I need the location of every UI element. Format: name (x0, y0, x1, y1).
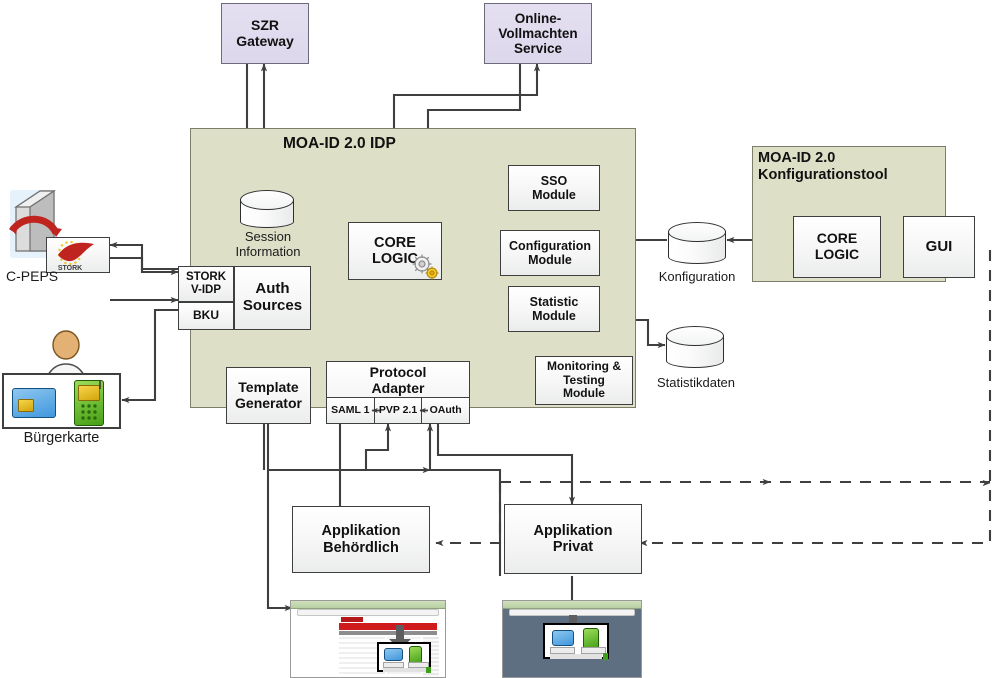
dialog-checkbox-row[interactable] (550, 654, 602, 659)
smartcard-icon (552, 630, 574, 646)
gears-icon (411, 254, 441, 280)
dialog-checkbox-row[interactable] (383, 668, 427, 672)
session-information-store (240, 190, 294, 228)
login-dialog-overlay[interactable] (543, 623, 609, 659)
moa-id-idp-panel-title: MOA-ID 2.0 IDP (283, 135, 396, 153)
c-peps-label: C-PEPS (0, 268, 102, 284)
auth-sources-box[interactable]: Auth Sources (234, 266, 311, 330)
browser-screenshot-behoerdlich[interactable] (290, 600, 446, 678)
protocol-adapter-label: Protocol Adapter (370, 365, 427, 396)
smartcard-chip-icon (18, 399, 34, 412)
online-vollmachten-service-box[interactable]: Online- Vollmachten Service (484, 3, 592, 64)
konfiguration-label: Konfiguration (642, 270, 752, 285)
browser-screenshot-privat[interactable] (502, 600, 642, 678)
buergerkarte-label: Bürgerkarte (0, 430, 123, 447)
konfiguration-store (668, 222, 726, 264)
sso-module-box[interactable]: SSO Module (508, 165, 600, 211)
dialog-button-karte[interactable] (550, 647, 575, 654)
template-generator-box[interactable]: Template Generator (226, 367, 311, 424)
statistikdaten-store (666, 326, 724, 368)
protocol-adapter-sub-arrows (326, 397, 476, 427)
cylinder-top (666, 326, 724, 346)
browser-chrome-bar (503, 601, 641, 609)
applikation-privat-box[interactable]: Applikation Privat (504, 504, 642, 574)
dialog-green-indicator-icon (603, 653, 608, 660)
konfigurationstool-panel-title: MOA-ID 2.0 Konfigurationstool (758, 150, 888, 183)
smartcard-icon (384, 648, 403, 661)
site-logo (341, 617, 363, 622)
login-dialog-overlay[interactable] (377, 642, 431, 672)
konfigurationstool-core-logic-box[interactable]: CORE LOGIC (793, 216, 881, 278)
diagram-canvas: MOA-ID 2.0 IDP MOA-ID 2.0 Konfigurations… (0, 0, 1000, 678)
cylinder-top (668, 222, 726, 242)
session-information-label: Session Information (213, 230, 323, 260)
mobile-phone-icon (583, 628, 599, 649)
mobile-phone-keys-icon (74, 380, 104, 426)
bku-box[interactable]: BKU (178, 302, 234, 330)
browser-chrome-bar (291, 601, 445, 609)
cylinder-top (240, 190, 294, 210)
dialog-green-indicator-icon (426, 667, 431, 673)
browser-address-bar[interactable] (297, 609, 439, 616)
stork-vidp-box[interactable]: STORK V-IDP (178, 266, 234, 302)
configuration-module-box[interactable]: Configuration Module (500, 230, 600, 276)
applikation-behoerdlich-box[interactable]: Applikation Behördlich (292, 506, 430, 573)
monitoring-testing-module-box[interactable]: Monitoring & Testing Module (535, 356, 633, 405)
szr-gateway-box[interactable]: SZR Gateway (221, 3, 309, 64)
konfigurationstool-gui-box[interactable]: GUI (903, 216, 975, 278)
statistikdaten-label: Statistikdaten (640, 376, 752, 391)
statistic-module-box[interactable]: Statistic Module (508, 286, 600, 332)
